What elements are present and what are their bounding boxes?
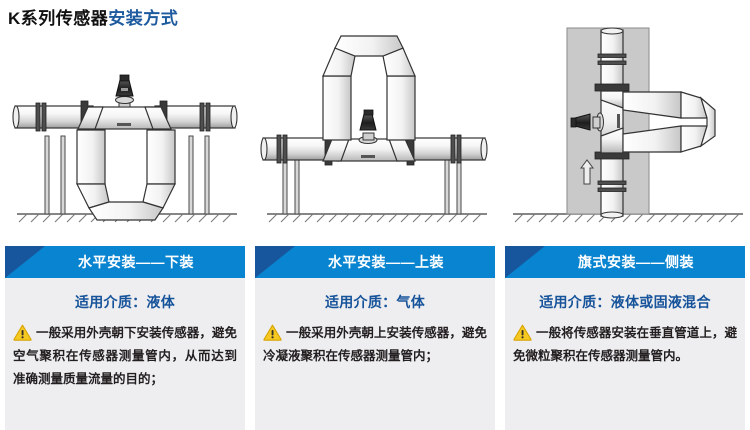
- card-header-label: 旗式安装——侧装: [556, 252, 694, 272]
- card-horizontal-down: 水平安装——下装 适用介质：液体 一般采用外壳朝下安装传感器，避免空气聚积在传感…: [5, 246, 245, 430]
- card-note-text: 一般采用外壳朝上安装传感器，避免冷凝液聚积在传感器测量管内；: [263, 326, 487, 363]
- installation-methods-page: K系列传感器安装方式: [0, 0, 750, 430]
- ground-hatching: [269, 214, 481, 222]
- transmitter-head-icon: [116, 75, 134, 107]
- corner-triangle-icon: [5, 246, 45, 278]
- ground-hatching: [515, 214, 739, 222]
- card-header-label: 水平安装——下装: [56, 252, 194, 272]
- card-medium-label: 适用介质：液体或固液混合: [505, 292, 745, 312]
- corner-triangle-icon: [255, 246, 295, 278]
- card-note-text: 一般将传感器安装在垂直管道上，避免微粒聚积在传感器测量管内。: [513, 326, 737, 363]
- horizontal-mount-down-diagram: [5, 18, 245, 240]
- card-header: 水平安装——下装: [5, 246, 245, 278]
- card-header-label: 水平安装——上装: [306, 252, 444, 272]
- u-tube-down: [77, 130, 175, 220]
- flag-mount-side-diagram: [505, 18, 750, 240]
- card-flag-side: 旗式安装——侧装 适用介质：液体或固液混合 一般将传感器安装在垂直管道上，避免微…: [505, 246, 745, 430]
- card-medium-label: 适用介质：气体: [255, 292, 495, 312]
- diagram-3-svg: [505, 18, 750, 240]
- card-medium-label: 适用介质：液体: [5, 292, 245, 312]
- transmitter-head-icon: [359, 110, 377, 144]
- warning-triangle-icon: [13, 324, 32, 341]
- sensor-body: [601, 91, 623, 153]
- cards-row: 水平安装——下装 适用介质：液体 一般采用外壳朝下安装传感器，避免空气聚积在传感…: [0, 246, 750, 430]
- card-note: 一般采用外壳朝上安装传感器，避免冷凝液聚积在传感器测量管内；: [263, 322, 487, 368]
- sensor-body: [78, 107, 171, 129]
- card-horizontal-up: 水平安装——上装 适用介质：气体 一般采用外壳朝上安装传感器，避免冷凝液聚积在传…: [255, 246, 495, 430]
- illustrations-row: [0, 18, 750, 240]
- warning-triangle-icon: [513, 324, 532, 341]
- diagram-1-svg: [5, 18, 245, 240]
- card-note: 一般将传感器安装在垂直管道上，避免微粒聚积在传感器测量管内。: [513, 322, 737, 368]
- corner-triangle-icon: [505, 246, 545, 278]
- warning-triangle-icon: [263, 324, 282, 341]
- card-header: 旗式安装——侧装: [505, 246, 745, 278]
- card-note: 一般采用外壳朝下安装传感器，避免空气聚积在传感器测量管内，从而达到准确测量质量流…: [13, 322, 237, 391]
- diagram-2-svg: [255, 18, 495, 240]
- card-note-text: 一般采用外壳朝下安装传感器，避免空气聚积在传感器测量管内，从而达到准确测量质量流…: [13, 326, 237, 386]
- horizontal-mount-up-diagram: [255, 18, 495, 240]
- card-header: 水平安装——上装: [255, 246, 495, 278]
